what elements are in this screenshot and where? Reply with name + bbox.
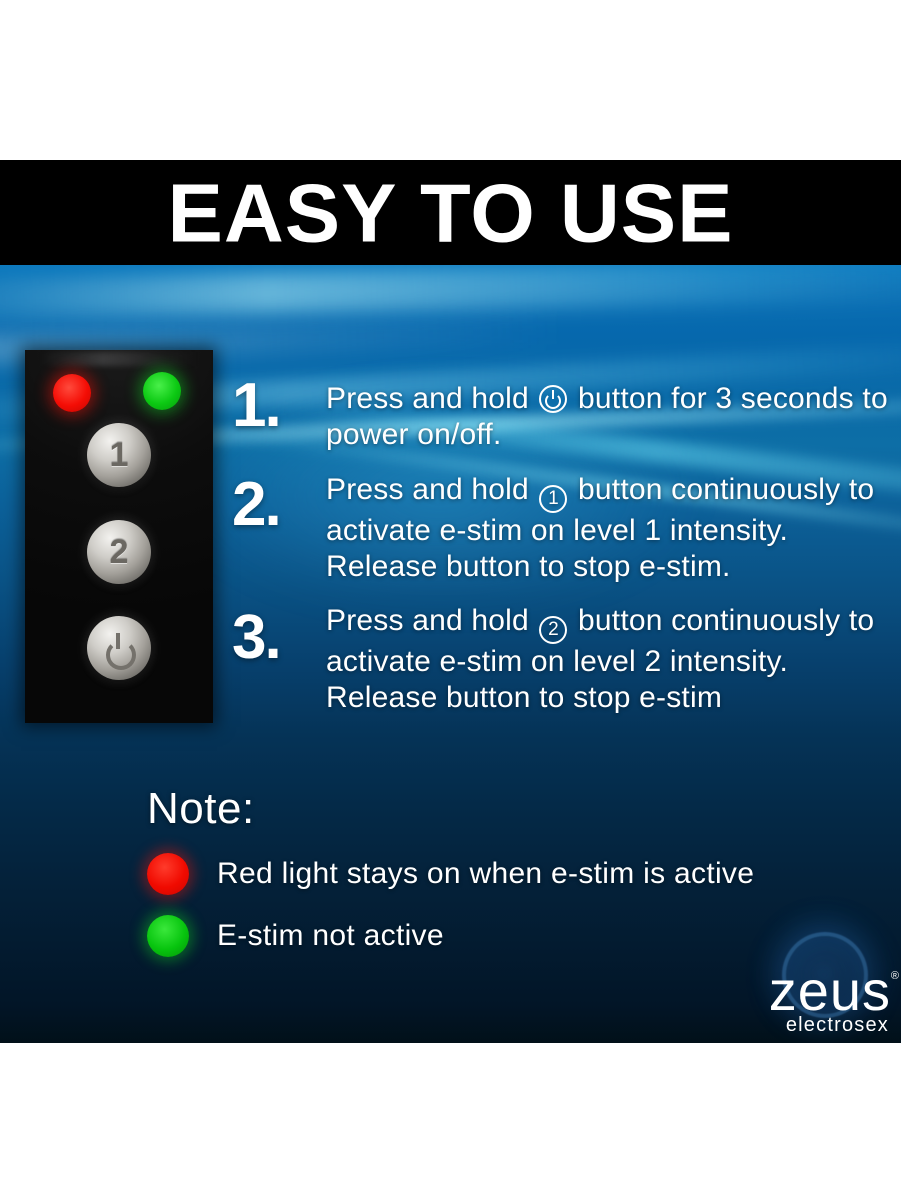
step-text-before: Press and hold	[326, 473, 529, 506]
step-number: 3.	[232, 599, 326, 666]
step-item: 3. Press and hold 2 button continuously …	[232, 599, 897, 717]
instruction-steps: 1. Press and hold button for 3 seconds t…	[232, 375, 897, 731]
page-title: EASY TO USE	[0, 171, 901, 254]
step-item: 1. Press and hold button for 3 seconds t…	[232, 375, 897, 454]
power-icon	[104, 633, 134, 663]
step-text-before: Press and hold	[326, 382, 529, 415]
light-streak-icon	[0, 265, 901, 320]
page-root: EASY TO USE 1 2 1. Press a	[0, 0, 901, 1200]
step-text: Press and hold button for 3 seconds to p…	[326, 375, 897, 454]
red-led-icon	[53, 374, 91, 412]
step-number: 1.	[232, 375, 326, 434]
title-banner: EASY TO USE	[0, 160, 901, 265]
step-number: 2.	[232, 468, 326, 533]
circled-two-icon: 2	[539, 616, 567, 644]
note-block: Note: Red light stays on when e-stim is …	[147, 787, 847, 957]
remote-button-2[interactable]: 2	[87, 520, 151, 584]
brand-name: zeus ®	[769, 965, 891, 1017]
note-title: Note:	[147, 787, 847, 831]
green-led-icon	[143, 372, 181, 410]
registered-mark-icon: ®	[891, 971, 900, 981]
step-text: Press and hold 1 button continuously to …	[326, 468, 897, 586]
circled-one-icon: 1	[539, 485, 567, 513]
remote-power-button[interactable]	[87, 616, 151, 680]
remote-button-1[interactable]: 1	[87, 423, 151, 487]
brand-name-text: zeus	[769, 959, 891, 1022]
step-text-before: Press and hold	[326, 604, 529, 637]
remote-highlight	[40, 352, 198, 366]
brand-logo: zeus ® electrosex	[711, 965, 891, 1035]
green-indicator-icon	[147, 915, 189, 957]
power-icon	[539, 385, 567, 413]
note-item-label: E-stim not active	[217, 921, 444, 951]
remote-control-image: 1 2	[25, 350, 213, 723]
content-panel: 1 2 1. Press and hold button for 3 secon…	[0, 265, 901, 1043]
step-text: Press and hold 2 button continuously to …	[326, 599, 897, 717]
red-indicator-icon	[147, 853, 189, 895]
step-item: 2. Press and hold 1 button continuously …	[232, 468, 897, 586]
note-item: E-stim not active	[147, 915, 847, 957]
note-item-label: Red light stays on when e-stim is active	[217, 859, 754, 889]
note-item: Red light stays on when e-stim is active	[147, 853, 847, 895]
